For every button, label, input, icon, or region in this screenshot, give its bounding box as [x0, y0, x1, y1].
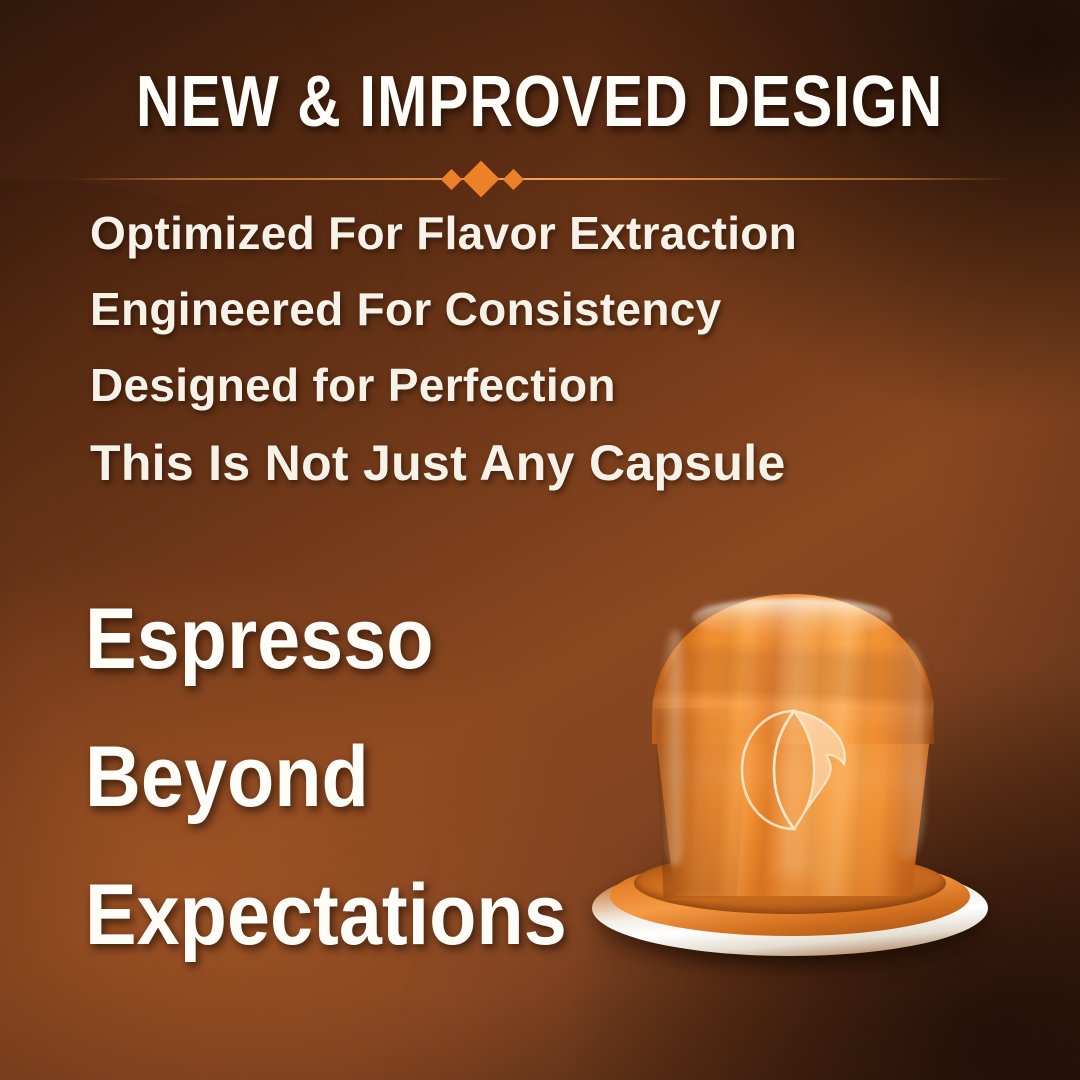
promo-poster: NEW & IMPROVED DESIGN Optimized For Flav…	[0, 0, 1080, 1080]
list-item: Optimized For Flavor Extraction	[90, 210, 920, 256]
product-capsule-image	[588, 588, 1000, 978]
capsule-dome	[652, 594, 934, 744]
divider-line	[70, 178, 1010, 180]
list-item: Engineered For Consistency	[90, 286, 920, 332]
list-item: Designed for Perfection	[90, 362, 920, 408]
tagline-line: Espresso	[85, 596, 643, 682]
diamond-ornament-icon	[441, 169, 462, 190]
feature-list: Optimized For Flavor Extraction Engineer…	[90, 210, 920, 518]
page-title: NEW & IMPROVED DESIGN	[136, 66, 943, 138]
tagline-line: Expectations	[85, 872, 643, 958]
diamond-ornament-icon	[503, 169, 524, 190]
tagline-line: Beyond	[85, 734, 643, 820]
headline-block: NEW & IMPROVED DESIGN	[0, 66, 1080, 138]
divider	[70, 168, 1010, 190]
diamond-ornament-icon	[463, 161, 500, 198]
list-item: This Is Not Just Any Capsule	[90, 438, 920, 488]
